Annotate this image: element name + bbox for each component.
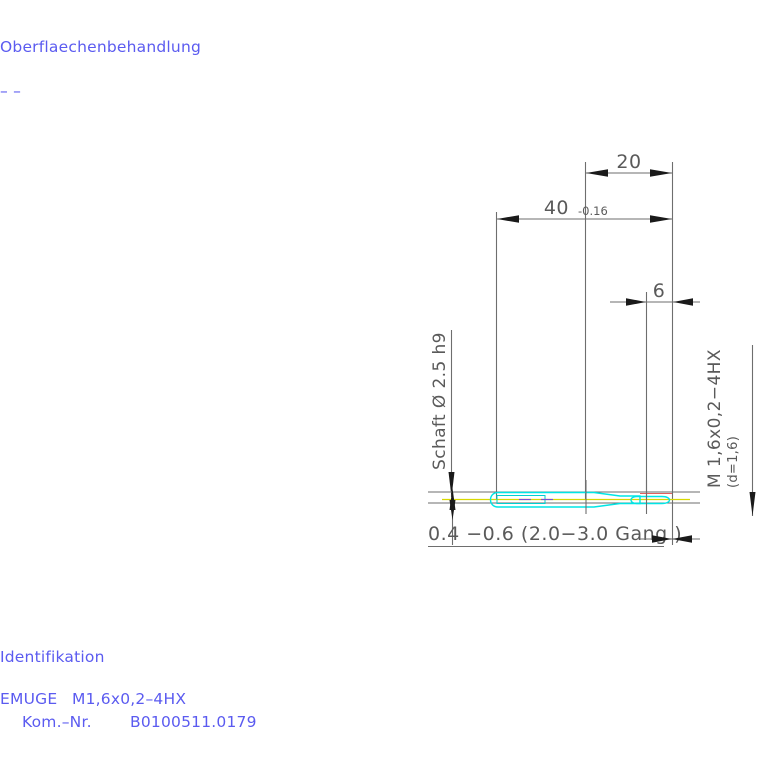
- identification-title: Identifikation: [0, 648, 105, 666]
- identification-designation: M1,6x0,2–4HX: [72, 690, 186, 708]
- dimension-value-20: 20: [616, 151, 641, 173]
- label-thread-sub: (d=1,6): [726, 436, 741, 488]
- arrow-head-shank: [449, 472, 455, 497]
- arrow-head-40-right: [650, 215, 672, 223]
- technical-drawing-canvas: Oberflaechenbehandlung – – 20 40 -0.16 6…: [0, 0, 767, 767]
- cad-drawing-root: Oberflaechenbehandlung – – 20 40 -0.16 6…: [0, 0, 767, 767]
- surface-treatment-title: Oberflaechenbehandlung: [0, 38, 201, 56]
- surface-treatment-value: – –: [0, 82, 21, 100]
- arrow-head-6-left: [626, 298, 646, 306]
- label-shank: Schaft Ø 2.5 h9: [430, 332, 450, 470]
- arrow-head-thread: [750, 492, 756, 516]
- arrow-head-20-left: [586, 169, 608, 177]
- label-thread: M 1,6x0,2−4HX: [705, 349, 725, 488]
- arrow-head-20-right: [650, 169, 672, 177]
- identification-order-number: B0100511.0179: [130, 713, 257, 731]
- identification-manufacturer: EMUGE: [0, 690, 57, 708]
- dimension-value-pitch: 0.4 −0.6 (2.0−3.0 Gang ): [428, 523, 682, 545]
- dimension-value-6: 6: [653, 280, 666, 302]
- arrow-head-6-right: [673, 298, 693, 306]
- arrow-head-40-left: [497, 215, 519, 223]
- identification-order-label: Kom.–Nr.: [22, 713, 92, 731]
- dimension-tolerance-40: -0.16: [578, 204, 608, 218]
- dimension-value-40: 40: [544, 197, 569, 219]
